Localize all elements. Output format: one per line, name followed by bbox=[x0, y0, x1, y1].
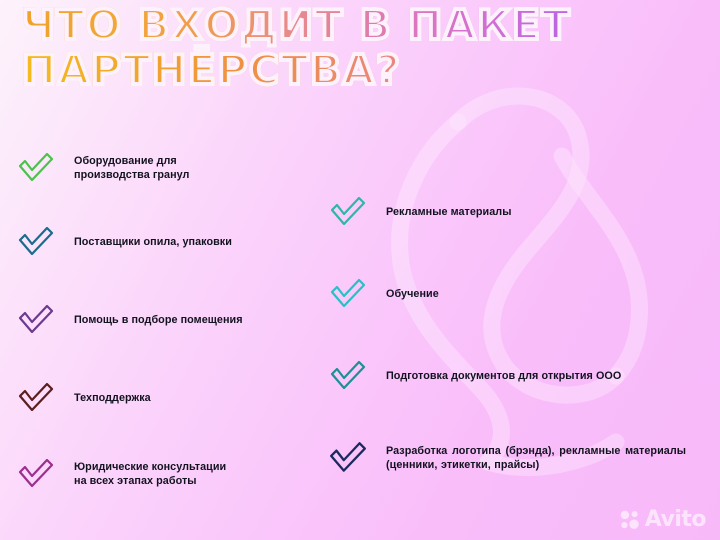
list-item: Помощь в подборе помещения bbox=[14, 300, 324, 340]
check-icon bbox=[326, 356, 370, 396]
list-item-label: Юридические консультации на всех этапах … bbox=[58, 460, 226, 489]
check-icon bbox=[14, 300, 58, 340]
check-icon bbox=[326, 274, 370, 314]
avito-watermark: Avito bbox=[619, 507, 706, 532]
list-item-label: Поставщики опила, упаковки bbox=[58, 235, 232, 249]
avito-logo-text: Avito bbox=[645, 507, 706, 532]
list-item: Рекламные материалы bbox=[326, 192, 706, 232]
list-item-label: Подготовка документов для открытия ООО bbox=[370, 369, 621, 383]
check-icon bbox=[326, 192, 370, 232]
check-icon bbox=[14, 378, 58, 418]
list-item: Обучение bbox=[326, 274, 706, 314]
list-item-label: Техподдержка bbox=[58, 391, 151, 405]
list-item: Поставщики опила, упаковки bbox=[14, 222, 324, 262]
list-item-label: Помощь в подборе помещения bbox=[58, 313, 243, 327]
list-item-label: Разработка логотипа (брэнда), рекламные … bbox=[370, 444, 686, 473]
list-item: Подготовка документов для открытия ООО bbox=[326, 356, 706, 396]
feature-list-right: Рекламные материалы Обучение Подготовка … bbox=[326, 192, 706, 478]
promo-slide: ЧТО ВХОДИТ В ПАКЕТ ПАРТНЁРСТВА? Оборудов… bbox=[0, 0, 720, 540]
list-item: Юридические консультации на всех этапах … bbox=[14, 454, 324, 494]
title-line-2: ПАРТНЁРСТВА? bbox=[22, 51, 662, 90]
check-icon bbox=[14, 148, 58, 188]
list-item: Оборудование для производства гранул bbox=[14, 148, 324, 188]
check-icon bbox=[326, 438, 370, 478]
list-item: Техподдержка bbox=[14, 378, 324, 418]
list-item: Разработка логотипа (брэнда), рекламные … bbox=[326, 438, 706, 478]
feature-list-left: Оборудование для производства гранул Пос… bbox=[14, 148, 324, 494]
check-icon bbox=[14, 454, 58, 494]
list-item-label: Оборудование для производства гранул bbox=[58, 154, 189, 183]
title-line-1: ЧТО ВХОДИТ В ПАКЕТ bbox=[22, 6, 662, 45]
list-item-label: Обучение bbox=[370, 287, 439, 301]
page-title: ЧТО ВХОДИТ В ПАКЕТ ПАРТНЁРСТВА? bbox=[22, 6, 662, 96]
list-item-label: Рекламные материалы bbox=[370, 205, 511, 219]
check-icon bbox=[14, 222, 58, 262]
avito-logo-icon bbox=[619, 509, 641, 531]
